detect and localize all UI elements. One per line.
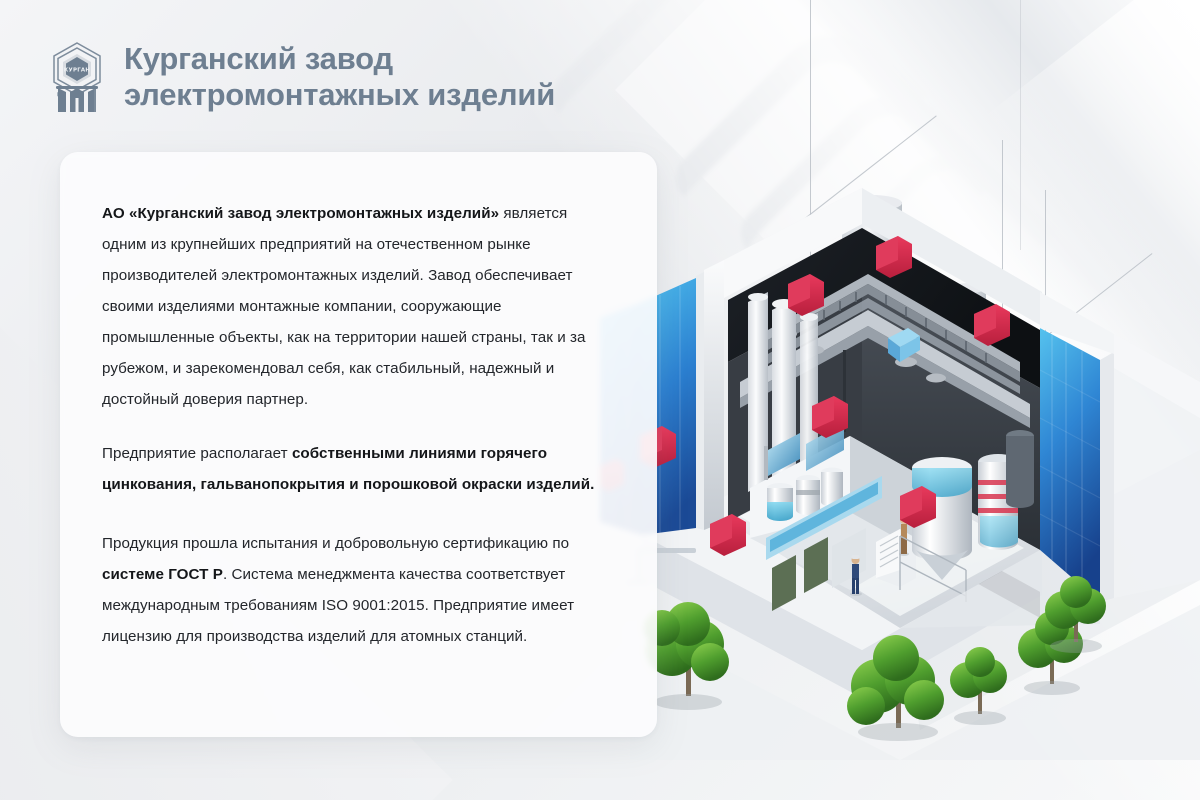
poster-canvas: КУРГАН Курганский завод электромонтажных… (0, 0, 1200, 800)
info-card: АО «Курганский завод электромонтажных из… (60, 152, 657, 737)
paragraph-about: АО «Курганский завод электромонтажных из… (102, 198, 613, 415)
paragraph-about-rest: является одним из крупнейших предприятий… (102, 205, 586, 408)
paragraph-certification: Продукция прошла испытания и добровольну… (102, 528, 613, 652)
page-header: КУРГАН Курганский завод электромонтажных… (48, 40, 555, 114)
gost-bold: системе ГОСТ Р (102, 566, 223, 583)
paragraph-capabilities: Предприятие располагает собственными лин… (102, 438, 613, 500)
page-title: Курганский завод электромонтажных издели… (124, 41, 555, 114)
company-logo-icon: КУРГАН (48, 40, 106, 114)
company-name-bold: АО «Курганский завод электромонтажных из… (102, 205, 499, 222)
paragraph-capabilities-pre: Предприятие располагает (102, 445, 292, 462)
svg-text:КУРГАН: КУРГАН (64, 68, 91, 74)
factory-illustration (600, 150, 1200, 760)
paragraph-certification-pre: Продукция прошла испытания и добровольну… (102, 535, 569, 552)
